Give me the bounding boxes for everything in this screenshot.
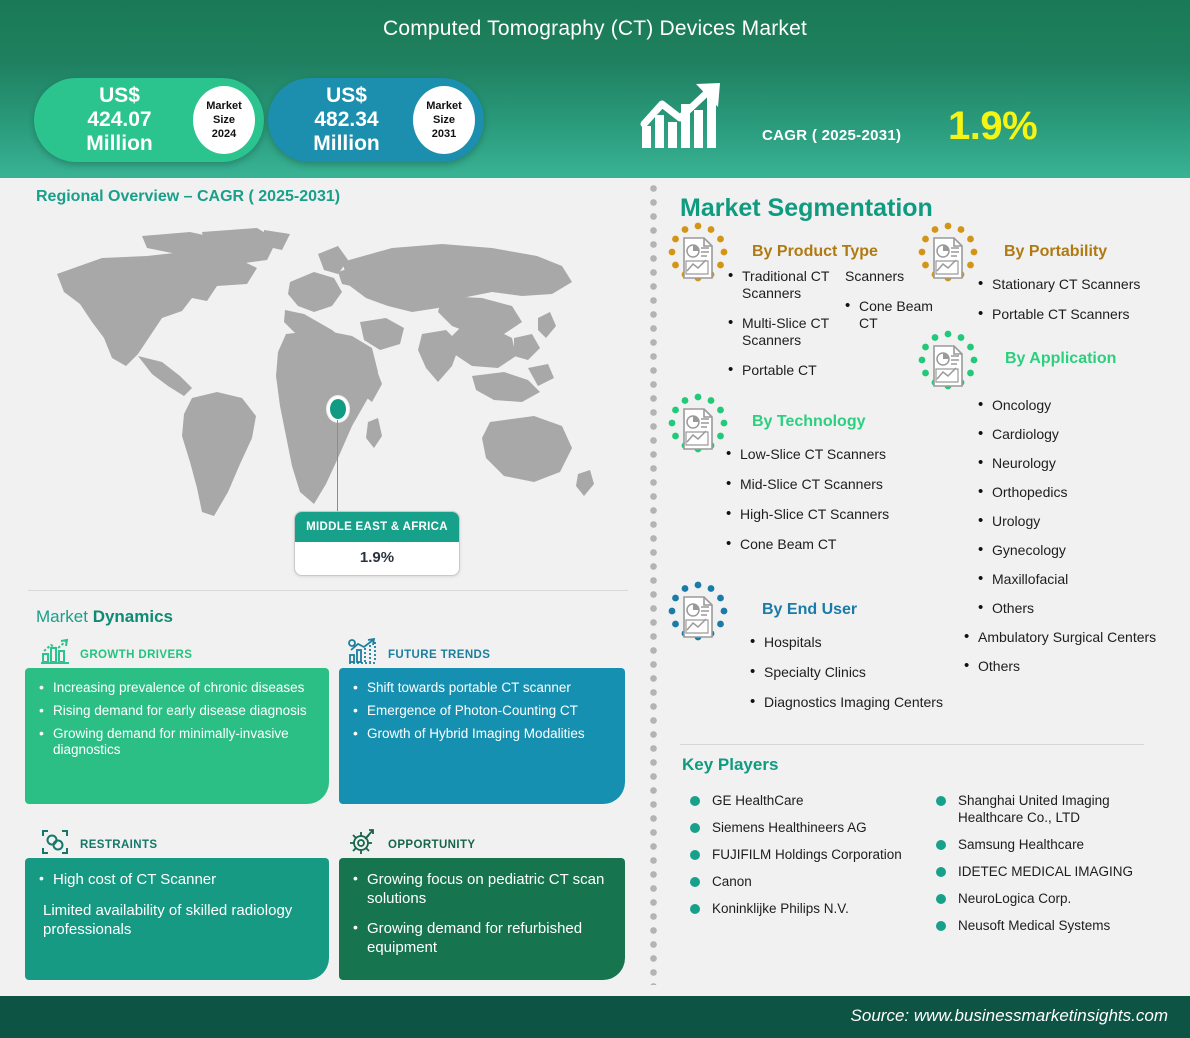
list-item: Mid-Slice CT Scanners	[726, 476, 926, 493]
market-size-2024-badge: Market Size 2024	[193, 86, 255, 154]
trend-analytics-icon	[348, 638, 378, 671]
opportunity-header: OPPORTUNITY	[348, 828, 475, 861]
map-pin-icon	[327, 396, 349, 422]
report-document-icon	[915, 222, 981, 288]
market-size-2031-badge: Market Size 2031	[413, 86, 475, 154]
list-item: GE HealthCare	[682, 792, 922, 809]
growth-drivers-box: Increasing prevalence of chronic disease…	[25, 668, 329, 804]
list-item: Increasing prevalence of chronic disease…	[39, 680, 315, 696]
list-item: Rising demand for early disease diagnosi…	[39, 703, 315, 719]
broken-link-icon	[40, 828, 70, 861]
list-item: Stationary CT Scanners	[978, 276, 1188, 293]
list-item: Growing demand for minimally-invasive di…	[39, 726, 315, 758]
market-size-2031-pill: US$ 482.34 Million Market Size 2031	[268, 78, 484, 162]
page-title: Computed Tomography (CT) Devices Market	[0, 17, 1190, 41]
segment-heading-end-user: By End User	[762, 601, 857, 619]
segment-heading-application: By Application	[1005, 350, 1116, 368]
segment-list-technology: Low-Slice CT Scanners Mid-Slice CT Scann…	[726, 446, 926, 566]
list-item: Limited availability of skilled radiolog…	[39, 901, 315, 939]
gear-target-icon	[348, 828, 378, 861]
key-players-column-left: GE HealthCare Siemens Healthineers AG FU…	[682, 792, 922, 927]
vertical-dotted-divider	[650, 185, 657, 985]
value-label: 424.07	[87, 108, 151, 131]
list-item: Neurology	[978, 455, 1178, 472]
list-item: Cone Beam CT	[845, 298, 955, 332]
market-segmentation-title: Market Segmentation	[680, 194, 933, 223]
badge-line-1: Market	[426, 99, 461, 113]
badge-line-3: 2031	[432, 127, 456, 141]
list-item: FUJIFILM Holdings Corporation	[682, 846, 922, 863]
list-item: Maxillofacial	[978, 571, 1178, 588]
list-item: Siemens Healthineers AG	[682, 819, 922, 836]
segment-list-portability: Stationary CT Scanners Portable CT Scann…	[978, 276, 1188, 336]
region-callout-card: MIDDLE EAST & AFRICA 1.9%	[294, 511, 460, 576]
list-item: Shanghai United Imaging Healthcare Co., …	[928, 792, 1178, 826]
list-item: Diagnostics Imaging Centers	[750, 694, 950, 711]
future-trends-header: FUTURE TRENDS	[348, 638, 490, 671]
region-name: MIDDLE EAST & AFRICA	[295, 512, 459, 542]
list-item: Hospitals	[750, 634, 950, 651]
currency-label: US$	[326, 84, 367, 107]
list-item: Gynecology	[978, 542, 1178, 559]
restraints-label: RESTRAINTS	[80, 839, 157, 851]
badge-line-2: Size	[433, 113, 455, 127]
list-item: Portable CT	[728, 362, 843, 379]
list-item: Low-Slice CT Scanners	[726, 446, 926, 463]
growth-drivers-header: GROWTH DRIVERS	[40, 638, 192, 671]
currency-label: US$	[99, 84, 140, 107]
report-document-icon	[665, 581, 731, 647]
unit-label: Million	[86, 132, 153, 155]
bar-chart-up-icon	[40, 638, 70, 671]
list-item: Koninklijke Philips N.V.	[682, 900, 922, 917]
title-light: Market	[36, 607, 93, 626]
segment-heading-product-type: By Product Type	[752, 243, 878, 261]
report-document-icon	[665, 393, 731, 459]
segment-heading-technology: By Technology	[752, 413, 866, 431]
market-size-2024-pill: US$ 424.07 Million Market Size 2024	[34, 78, 264, 162]
segment-list-product-type-col1: Traditional CT Scanners Multi-Slice CT S…	[728, 268, 843, 392]
growth-drivers-label: GROWTH DRIVERS	[80, 649, 192, 661]
growth-chart-arrow-icon	[640, 82, 726, 155]
list-item: Growing focus on pediatric CT scan solut…	[353, 870, 611, 908]
list-item: Samsung Healthcare	[928, 836, 1178, 853]
key-players-divider	[680, 744, 1144, 745]
opportunity-box: Growing focus on pediatric CT scan solut…	[339, 858, 625, 980]
list-item: Urology	[978, 513, 1178, 530]
list-item: Ambulatory Surgical Centers	[964, 629, 1178, 646]
list-item: High-Slice CT Scanners	[726, 506, 926, 523]
world-map-svg	[42, 226, 622, 526]
unit-label: Million	[313, 132, 380, 155]
list-item: Specialty Clinics	[750, 664, 950, 681]
list-item: IDETEC MEDICAL IMAGING	[928, 863, 1178, 880]
list-item: Portable CT Scanners	[978, 306, 1188, 323]
list-item: Shift towards portable CT scanner	[353, 680, 611, 696]
world-map	[42, 226, 622, 526]
restraints-box: High cost of CT Scanner Limited availabi…	[25, 858, 329, 980]
report-document-icon	[915, 330, 981, 396]
header-banner: Computed Tomography (CT) Devices Market …	[0, 0, 1190, 178]
cagr-value: 1.9%	[948, 104, 1037, 149]
future-trends-label: FUTURE TRENDS	[388, 649, 490, 661]
market-size-2031-value: US$ 482.34 Million	[268, 84, 413, 156]
regional-overview-title: Regional Overview – CAGR ( 2025-2031)	[36, 188, 340, 206]
segment-list-application: Oncology Cardiology Neurology Orthopedic…	[978, 397, 1178, 687]
opportunity-label: OPPORTUNITY	[388, 839, 475, 851]
list-item: Cone Beam CT	[726, 536, 926, 553]
left-divider	[28, 590, 628, 591]
footer-bar: Source: www.businessmarketinsights.com	[0, 996, 1190, 1038]
list-item: NeuroLogica Corp.	[928, 890, 1178, 907]
list-item: High cost of CT Scanner	[39, 870, 315, 889]
badge-line-2: Size	[213, 113, 235, 127]
market-size-2024-value: US$ 424.07 Million	[34, 84, 193, 156]
list-item: Cardiology	[978, 426, 1178, 443]
value-label: 482.34	[314, 108, 378, 131]
region-cagr-value: 1.9%	[295, 542, 459, 575]
list-item: Oncology	[978, 397, 1178, 414]
title-bold: Dynamics	[93, 607, 173, 626]
list-item: Canon	[682, 873, 922, 890]
list-item: Others	[964, 658, 1178, 675]
segment-list-end-user: Hospitals Specialty Clinics Diagnostics …	[750, 634, 950, 724]
list-item: Neusoft Medical Systems	[928, 917, 1178, 934]
future-trends-box: Shift towards portable CT scanner Emerge…	[339, 668, 625, 804]
list-item: Growth of Hybrid Imaging Modalities	[353, 726, 611, 742]
key-players-column-right: Shanghai United Imaging Healthcare Co., …	[928, 792, 1178, 944]
list-item: Emergence of Photon-Counting CT	[353, 703, 611, 719]
restraints-header: RESTRAINTS	[40, 828, 157, 861]
segment-heading-portability: By Portability	[1004, 243, 1107, 261]
list-item: Multi-Slice CT Scanners	[728, 315, 843, 349]
key-players-title: Key Players	[682, 755, 778, 775]
source-text: Source: www.businessmarketinsights.com	[851, 1006, 1168, 1026]
list-item: Orthopedics	[978, 484, 1178, 501]
list-item: Traditional CT Scanners	[728, 268, 843, 302]
badge-line-1: Market	[206, 99, 241, 113]
report-document-icon	[665, 222, 731, 288]
badge-line-3: 2024	[212, 127, 236, 141]
list-item: Others	[978, 600, 1178, 617]
list-item: Growing demand for refurbished equipment	[353, 919, 611, 957]
market-dynamics-title: Market Dynamics	[36, 607, 173, 627]
cagr-label: CAGR ( 2025-2031)	[762, 127, 901, 144]
